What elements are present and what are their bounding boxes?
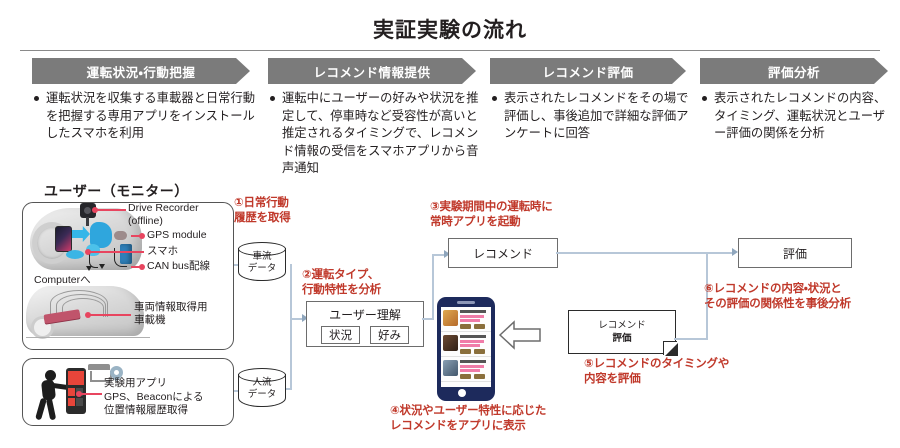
user-understanding-subboxes: 状況 好み	[321, 326, 409, 344]
phone-tile-4	[76, 398, 83, 406]
note-1: ①日常行動 履歴を取得	[234, 196, 291, 226]
card-text-line-1	[460, 365, 484, 368]
recommend-card	[441, 357, 491, 382]
feedback-arrow-icon	[498, 318, 542, 352]
phone-app-banner	[68, 371, 84, 385]
situation-box: 状況	[321, 326, 360, 344]
phone-tile-3	[68, 398, 75, 406]
page-title: 実証実験の流れ	[0, 14, 900, 44]
phase-text-4: 表示されたレコメンドの内容、タイミング、運転状況とユーザー評価の関係を分析	[702, 90, 892, 143]
connector-people-up	[290, 318, 292, 390]
recommend-evaluation-note: レコメンド 評価	[568, 310, 676, 354]
phase-bullet-3: 表示されたレコメンドをその場で評価し、事後追加で詳細な評価アンケートに回答	[492, 90, 694, 143]
datastore-traffic: 車流 データ	[238, 242, 286, 286]
card-text-line-1	[460, 315, 484, 318]
note-2: ②運転タイプ、 行動特性を分析	[302, 268, 381, 298]
phone-home-button	[458, 389, 466, 397]
phase-text-1: 運転状況を収集する車載器と日常行動を把握する専用アプリをインストールしたスマホを…	[34, 90, 256, 143]
label-smartphone: スマホ	[147, 245, 178, 258]
card-text-line-2	[460, 319, 480, 322]
recommend-box: レコメンド	[448, 238, 558, 268]
recommend-card	[441, 332, 491, 357]
slide-root: 実証実験の流れ 運転状況・行動把握 レコメンド情報提供 レコメンド評価 評価分析…	[0, 0, 900, 448]
smartphone-mockup	[437, 297, 495, 401]
ground-line	[26, 337, 150, 338]
evaluation-box: 評価	[738, 238, 852, 268]
recommend-card	[441, 307, 491, 332]
in-car-display-icon	[55, 226, 72, 252]
user-panel-title: ユーザー（モニター）	[44, 181, 189, 204]
card-button-1	[460, 349, 471, 354]
preference-box: 好み	[370, 326, 409, 344]
card-thumbnail	[443, 360, 458, 376]
leader-line-drive-recorder	[96, 209, 126, 211]
card-button-2	[474, 374, 485, 379]
card-thumbnail	[443, 310, 458, 326]
phase-banner-3: レコメンド評価	[490, 58, 686, 84]
card-thumbnail	[443, 335, 458, 351]
pedestrian-leg-left	[35, 398, 47, 421]
card-button-1	[460, 374, 471, 379]
title-divider	[20, 50, 880, 51]
card-title-line	[460, 360, 486, 363]
card-button-1	[460, 324, 471, 329]
note-6: ⑥レコメンドの内容・状況と その評価の関係性を事後分析	[704, 282, 851, 312]
wire-arrow-2	[99, 264, 105, 269]
label-gps-module: GPS module	[147, 229, 207, 242]
phone-screen	[441, 307, 491, 387]
connector-note-right	[674, 338, 708, 340]
card-text-line-2	[460, 369, 480, 372]
card-text-line-1	[460, 340, 484, 343]
blue-pad-shape	[66, 250, 84, 259]
leader-line-obd	[89, 314, 131, 316]
card-title-line	[460, 310, 486, 313]
card-title-line	[460, 335, 486, 338]
shop-roof	[88, 364, 110, 370]
phase-bullet-4: 表示されたレコメンドの内容、タイミング、運転状況とユーザー評価の関係を分析	[702, 90, 892, 143]
phase-banner-row: 運転状況・行動把握 レコメンド情報提供 レコメンド評価 評価分析	[0, 58, 900, 84]
pedestrian-leg-right	[46, 398, 56, 421]
note-fold-corner	[663, 341, 677, 355]
note-5: ⑤レコメンドのタイミングや 内容を評価	[584, 357, 729, 387]
wire-arrow-1	[86, 266, 92, 271]
user-understanding-title: ユーザー理解	[329, 306, 401, 323]
leader-line-gps	[131, 235, 144, 237]
label-experiment-app: 実験用アプリ GPS、Beaconによる 位置情報履歴取得	[104, 377, 203, 418]
card-button-2	[474, 349, 485, 354]
leader-line-app	[80, 393, 102, 395]
note-3: ③実験期間中の運転時に 常時アプリを起動	[430, 200, 553, 230]
datastore-people-label: 人流 データ	[238, 377, 286, 401]
recommend-evaluation-text: レコメンド 評価	[569, 311, 675, 353]
card-button-2	[474, 324, 485, 329]
drive-recorder-mount	[86, 217, 89, 226]
gps-module-icon	[114, 231, 127, 240]
note-4: ④状況やユーザー特性に応じた レコメンドをアプリに表示	[390, 404, 546, 434]
leader-line-can-bus	[131, 266, 144, 268]
datastore-people: 人流 データ	[238, 368, 286, 412]
phone-speaker	[457, 301, 475, 304]
datastore-traffic-label: 車流 データ	[238, 251, 286, 275]
phase-bullet-1: 運転状況を収集する車載器と日常行動を把握する専用アプリをインストールしたスマホを…	[34, 90, 256, 143]
phase-bullet-2: 運転中にユーザーの好みや状況を推定して、停車時など受容性が高いと推定されるタイミ…	[270, 90, 482, 178]
phone-tile-1	[68, 388, 75, 396]
label-can-bus: CAN bus配線	[147, 260, 210, 273]
connector-people-join	[286, 388, 292, 390]
connector-traffic-down	[290, 264, 292, 318]
phase-banner-2: レコメンド情報提供	[268, 58, 476, 84]
phase-text-2: 運転中にユーザーの好みや状況を推定して、停車時など受容性が高いと推定されるタイミ…	[270, 90, 482, 178]
user-understanding-box: ユーザー理解 状況 好み	[306, 301, 424, 347]
phase-banner-4: 評価分析	[700, 58, 888, 84]
label-drive-recorder: Drive Recorder (offline)	[128, 202, 199, 228]
computer-to-label: Computerへ	[34, 272, 91, 287]
phase-text-3: 表示されたレコメンドをその場で評価し、事後追加で詳細な評価アンケートに回答	[492, 90, 694, 143]
label-obd-device: 車両情報取得用 車載機	[134, 301, 208, 327]
leader-line-smartphone	[89, 251, 144, 253]
card-text-line-2	[460, 344, 480, 347]
connector-up-to-recommend	[432, 254, 434, 320]
flow-diagram: ユーザー（モニター） Computerへ	[0, 182, 900, 448]
phase-banner-1: 運転状況・行動把握	[32, 58, 250, 84]
